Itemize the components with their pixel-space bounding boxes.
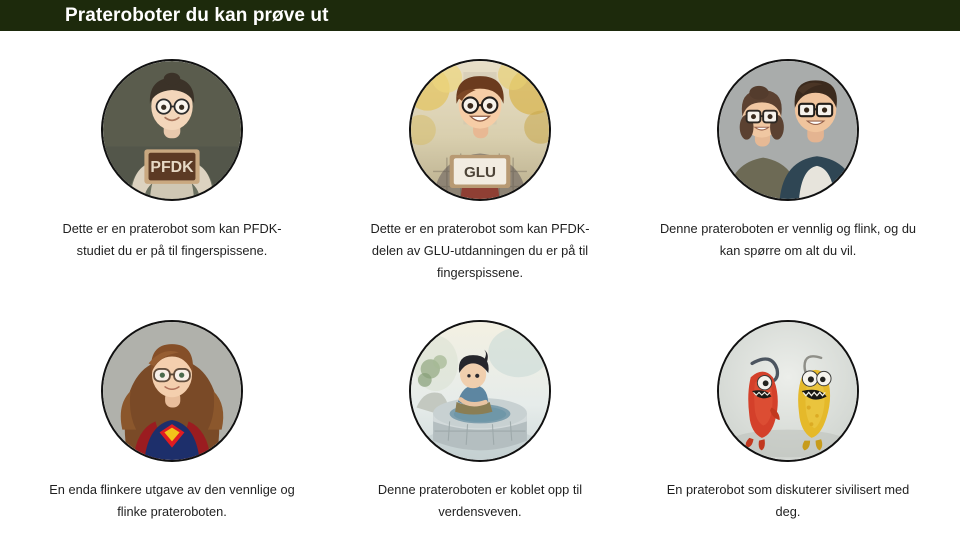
- bot-card-debate[interactable]: En praterobot som diskuterer sivilisert …: [634, 320, 942, 523]
- bot-caption: En enda flinkere utgave av den vennlige …: [47, 479, 297, 523]
- avatar-glu-boy-with-sign[interactable]: GLU: [409, 59, 551, 201]
- bot-caption: Denne prateroboten er vennlig og flink, …: [657, 218, 919, 262]
- avatar-sign-text-pfdk: PFDK: [150, 159, 194, 176]
- bot-caption: Dette er en praterobot som kan PFDK-stud…: [47, 218, 297, 262]
- avatar-sign-text-glu: GLU: [464, 164, 496, 181]
- bot-grid: PFDK Dette er en praterobot som kan PFDK…: [0, 31, 960, 523]
- bot-card-friendly[interactable]: Denne prateroboten er vennlig og flink, …: [634, 59, 942, 284]
- avatar-two-monsters[interactable]: [717, 320, 859, 462]
- bot-caption: Dette er en praterobot som kan PFDK-dele…: [355, 218, 605, 284]
- avatar-pfdk-woman-with-sign[interactable]: PFDK: [101, 59, 243, 201]
- avatar-boy-at-well[interactable]: [409, 320, 551, 462]
- bot-card-pfdk[interactable]: PFDK Dette er en praterobot som kan PFDK…: [18, 59, 326, 284]
- bot-caption: En praterobot som diskuterer sivilisert …: [657, 479, 919, 523]
- bot-card-glu[interactable]: GLU Dette er en praterobot som kan PFDK-…: [326, 59, 634, 284]
- avatar-supergirl[interactable]: [101, 320, 243, 462]
- bot-caption: Denne prateroboten er koblet opp til ver…: [355, 479, 605, 523]
- avatar-friendly-couple[interactable]: [717, 59, 859, 201]
- page-header: Prateroboter du kan prøve ut: [0, 0, 960, 31]
- page-title: Prateroboter du kan prøve ut: [65, 6, 329, 25]
- bot-card-supergirl[interactable]: En enda flinkere utgave av den vennlige …: [18, 320, 326, 523]
- bot-card-web[interactable]: Denne prateroboten er koblet opp til ver…: [326, 320, 634, 523]
